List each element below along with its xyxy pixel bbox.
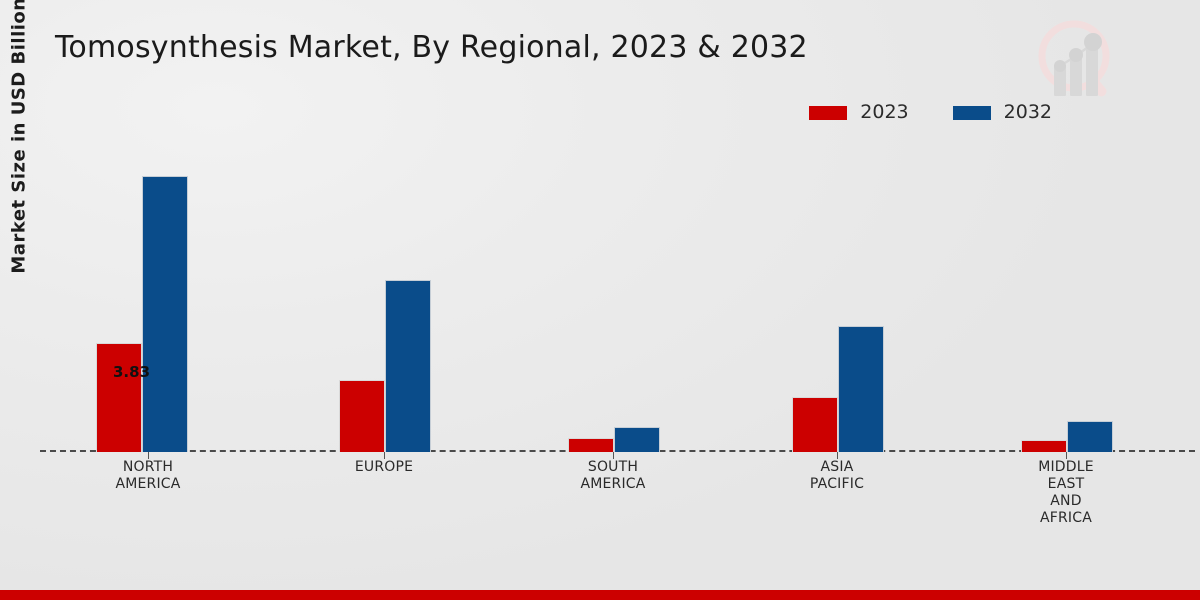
legend-item-2023[interactable]: 2023 — [809, 103, 908, 122]
bar-2032-europe[interactable] — [385, 280, 431, 452]
x-label-south-america: SOUTH AMERICA — [528, 459, 698, 493]
bar-group-north-america — [95, 140, 188, 452]
x-label-line: MIDDLE — [981, 459, 1151, 476]
x-label-line: EUROPE — [299, 459, 469, 476]
bar-2032-asia-pacific[interactable] — [838, 326, 884, 452]
bar-group-middle-east-and-africa — [1020, 140, 1113, 452]
bar-2032-south-america[interactable] — [614, 427, 660, 452]
x-label-asia-pacific: ASIA PACIFIC — [752, 459, 922, 493]
x-label-europe: EUROPE — [299, 459, 469, 476]
bar-2023-middle-east-and-africa[interactable] — [1021, 440, 1067, 452]
x-tick-middle-east-and-africa — [1066, 452, 1067, 459]
y-axis-title-text: Market Size in USD Billion — [9, 0, 30, 273]
x-label-line: PACIFIC — [752, 476, 922, 493]
x-label-line: NORTH — [63, 459, 233, 476]
legend-swatch-2023 — [809, 106, 847, 120]
legend-label-2032: 2032 — [1004, 103, 1052, 122]
x-tick-asia-pacific — [837, 452, 838, 459]
plot-area — [40, 140, 1200, 452]
legend-item-2032[interactable]: 2032 — [953, 103, 1052, 122]
bar-2032-middle-east-and-africa[interactable] — [1067, 421, 1113, 452]
x-label-line: AMERICA — [63, 476, 233, 493]
market-research-logo-icon — [1030, 14, 1122, 106]
y-axis-title: Market Size in USD Billion — [2, 0, 36, 600]
x-label-line: ASIA — [752, 459, 922, 476]
x-label-middle-east-and-africa: MIDDLE EAST AND AFRICA — [981, 459, 1151, 527]
chart-canvas: Tomosynthesis Market, By Regional, 2023 … — [0, 0, 1200, 600]
bar-2023-north-america[interactable] — [96, 343, 142, 452]
bar-group-europe — [338, 140, 431, 452]
x-label-north-america: NORTH AMERICA — [63, 459, 233, 493]
bar-group-asia-pacific — [791, 140, 884, 452]
chart-legend: 2023 2032 — [809, 103, 1052, 122]
legend-swatch-2032 — [953, 106, 991, 120]
x-label-line: AND — [981, 493, 1151, 510]
x-label-line: AFRICA — [981, 510, 1151, 527]
bar-2023-asia-pacific[interactable] — [792, 397, 838, 452]
bar-2032-north-america[interactable] — [142, 176, 188, 452]
x-tick-south-america — [613, 452, 614, 459]
x-tick-europe — [384, 452, 385, 459]
x-label-line: AMERICA — [528, 476, 698, 493]
bar-2023-europe[interactable] — [339, 380, 385, 452]
x-tick-north-america — [148, 452, 149, 459]
bar-value-2023-north-america: 3.83 — [113, 363, 150, 381]
legend-label-2023: 2023 — [860, 103, 908, 122]
bottom-accent-band — [0, 590, 1200, 600]
x-label-line: SOUTH — [528, 459, 698, 476]
bar-group-south-america — [567, 140, 660, 452]
chart-title: Tomosynthesis Market, By Regional, 2023 … — [55, 30, 808, 65]
x-label-line: EAST — [981, 476, 1151, 493]
bar-2023-south-america[interactable] — [568, 438, 614, 452]
